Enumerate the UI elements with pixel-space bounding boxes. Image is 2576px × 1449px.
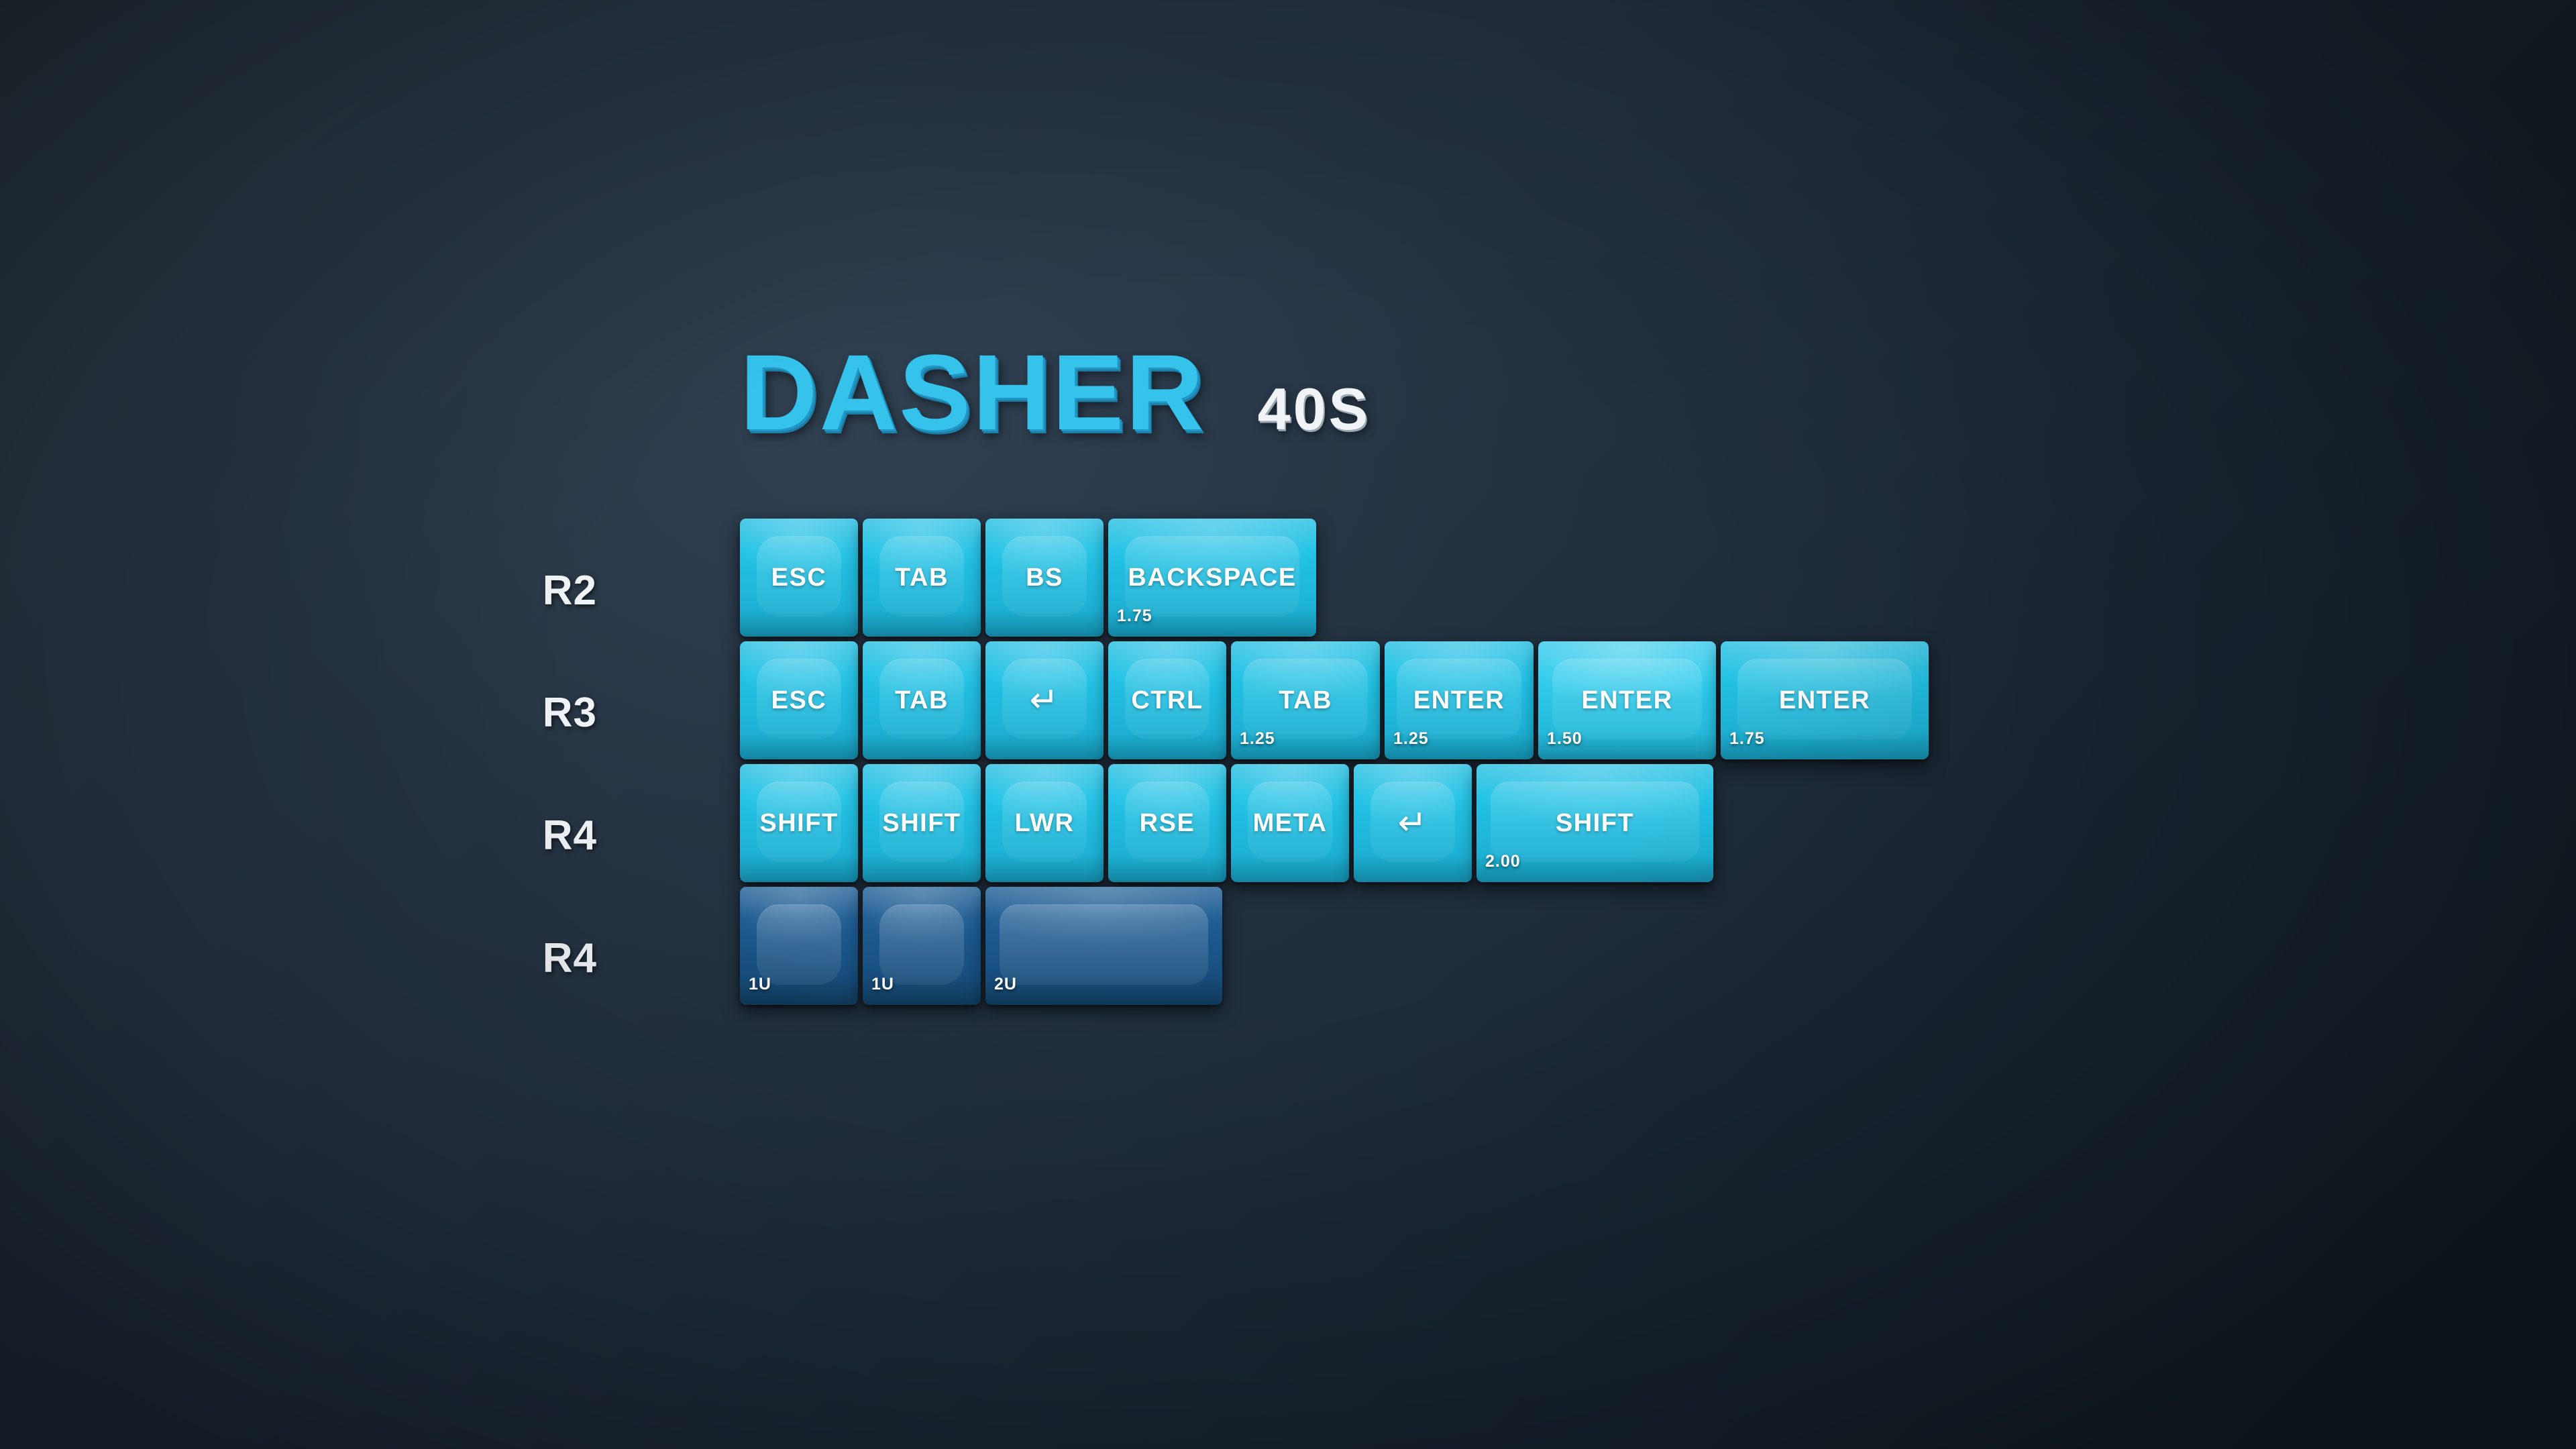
keycap-blank[interactable] — [985, 887, 1222, 1005]
keycap-legend: TAB — [863, 565, 981, 590]
keycap-legend: SHIFT — [863, 810, 981, 836]
keycap-legend: LWR — [985, 810, 1104, 836]
keycap-legend: ESC — [740, 565, 858, 590]
keycap-size-label: 1U — [871, 976, 894, 993]
keycap-ctrl[interactable]: CTRL — [1108, 641, 1226, 759]
keycap-size-label: 2.00 — [1485, 853, 1521, 870]
keycap-size-label: 1.75 — [1117, 608, 1152, 625]
keycap-size-label: 1U — [749, 976, 771, 993]
keycap-shift[interactable]: SHIFT — [740, 764, 858, 882]
row-label-0: R2 — [470, 567, 597, 614]
keycap-bs[interactable]: BS — [985, 519, 1104, 637]
keycap-[interactable]: ↵ — [985, 641, 1104, 759]
keycap-legend: ENTER — [1538, 688, 1716, 713]
keycap-legend: TAB — [863, 688, 981, 713]
keycap-esc[interactable]: ESC — [740, 519, 858, 637]
keycap-legend: SHIFT — [1477, 810, 1713, 836]
enter-arrow-icon: ↵ — [985, 683, 1104, 718]
keycap-legend: ENTER — [1721, 688, 1929, 713]
keycap-[interactable]: ↵ — [1354, 764, 1472, 882]
keycap-legend: TAB — [1231, 688, 1380, 713]
keycap-shift[interactable]: SHIFT — [863, 764, 981, 882]
keycap-legend: CTRL — [1108, 688, 1226, 713]
keycap-legend: ENTER — [1385, 688, 1534, 713]
row-label-1: R3 — [470, 689, 597, 737]
row-label-3: R4 — [470, 934, 597, 982]
keycap-legend: RSE — [1108, 810, 1226, 836]
keycap-set-render: DASHER 40S R2ESCTABBSBACKSPACE1.75R3ESCT… — [0, 0, 2576, 1449]
set-variant-title: 40S — [1258, 380, 1371, 439]
keycap-tab[interactable]: TAB — [863, 519, 981, 637]
keycap-tab[interactable]: TAB — [863, 641, 981, 759]
keycap-meta[interactable]: META — [1231, 764, 1349, 882]
title-block: DASHER 40S — [740, 339, 1371, 446]
keycap-legend: BS — [985, 565, 1104, 590]
keycap-top-surface — [879, 904, 965, 985]
row-label-2: R4 — [470, 812, 597, 859]
enter-arrow-icon: ↵ — [1354, 806, 1472, 841]
keycap-size-label: 2U — [994, 976, 1017, 993]
keycap-top-surface — [1000, 904, 1208, 985]
keycap-lwr[interactable]: LWR — [985, 764, 1104, 882]
keycap-top-surface — [757, 904, 842, 985]
keycap-rse[interactable]: RSE — [1108, 764, 1226, 882]
keycap-legend: BACKSPACE — [1108, 565, 1316, 590]
set-name-title: DASHER — [740, 339, 1205, 446]
keycap-size-label: 1.50 — [1547, 731, 1582, 747]
keycap-size-label: 1.25 — [1240, 731, 1275, 747]
keycap-esc[interactable]: ESC — [740, 641, 858, 759]
keycap-size-label: 1.25 — [1393, 731, 1429, 747]
keycap-legend: ESC — [740, 688, 858, 713]
keycap-legend: META — [1231, 810, 1349, 836]
keycap-size-label: 1.75 — [1729, 731, 1765, 747]
keycap-legend: SHIFT — [740, 810, 858, 836]
